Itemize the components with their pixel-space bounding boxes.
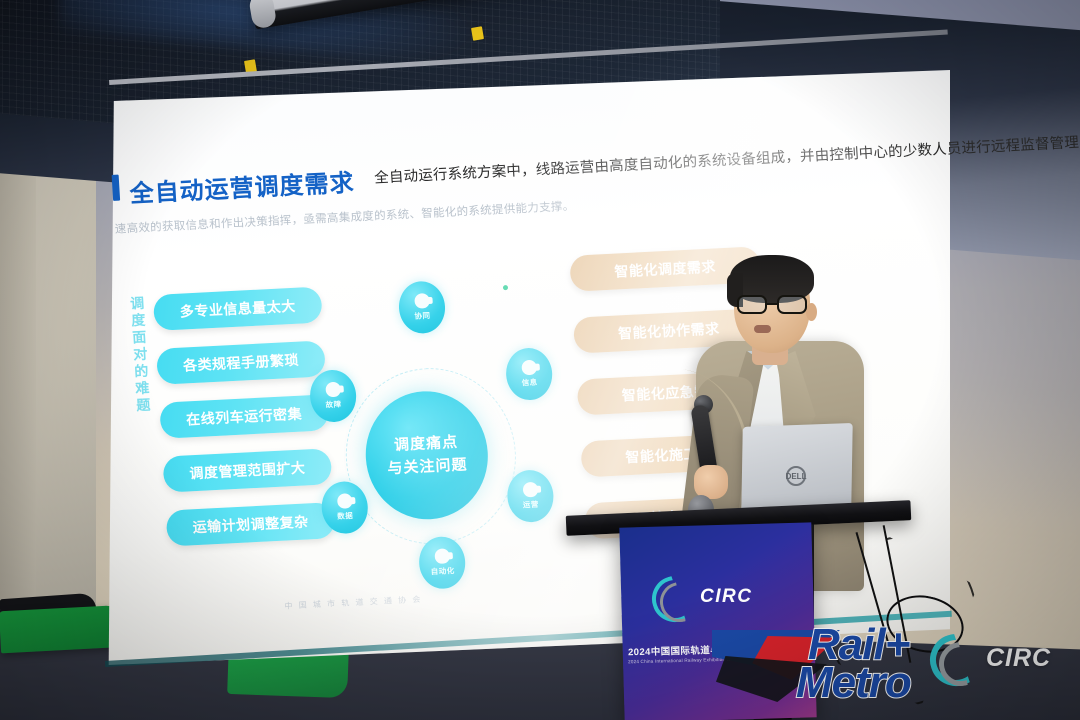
- core-label-line1: 调度痛点: [393, 430, 458, 456]
- left-pill-3[interactable]: 在线列车运行密集: [159, 394, 329, 438]
- photo-scene: 全自动运营调度需求 全自动运行系统方案中，线路运营由高度自动化的系统设备组成，并…: [0, 0, 1080, 720]
- slide-footer: 中 国 城 市 轨 道 交 通 协 会: [284, 594, 422, 612]
- eyeglasses-icon: [737, 295, 807, 314]
- circ-watermark: CIRC: [930, 632, 1056, 692]
- satellite-自动化[interactable]: 自动化: [418, 536, 467, 590]
- hand-icon: [325, 382, 341, 398]
- satellite-label: 故障: [325, 399, 342, 411]
- left-pill-5[interactable]: 运输计划调整复杂: [166, 502, 336, 546]
- vertical-caption: 调度面对的难题: [121, 295, 154, 415]
- slide-headline: 全自动运行系统方案中，线路运营由高度自动化的系统设备组成，并由控制中心的少数人员…: [374, 139, 915, 187]
- title-accent-bar: [112, 175, 121, 201]
- core-label-line2: 与关注问题: [387, 453, 468, 480]
- hand-icon: [414, 293, 430, 309]
- left-pill-4[interactable]: 调度管理范围扩大: [162, 448, 332, 492]
- orbit-dot: [503, 285, 508, 290]
- speaker-ear: [806, 303, 817, 321]
- dell-logo-icon: DELL: [786, 466, 806, 486]
- satellite-信息[interactable]: 信息: [505, 347, 554, 401]
- circ-watermark-text: CIRC: [986, 644, 1051, 673]
- left-pill-2[interactable]: 各类规程手册繁琐: [156, 340, 326, 384]
- satellite-label: 自动化: [430, 565, 455, 577]
- watermark-logos: Rail+ Metro CIRC: [712, 610, 1062, 714]
- hand-icon: [434, 548, 450, 564]
- satellite-运营[interactable]: 运营: [506, 469, 555, 523]
- warning-label-sticker: [471, 26, 484, 41]
- slide-title: 全自动运营调度需求: [129, 163, 356, 209]
- hand-icon: [336, 493, 352, 509]
- hand-icon: [522, 482, 538, 498]
- satellite-label: 协同: [414, 310, 431, 322]
- circ-logo-text: CIRC: [700, 586, 752, 608]
- left-pill-1[interactable]: 多专业信息量太大: [153, 286, 323, 330]
- speaker-mouth: [754, 325, 771, 333]
- satellite-label: 数据: [337, 510, 354, 522]
- satellite-label: 运营: [523, 499, 540, 511]
- rail-metro-text-line2: Metro: [796, 658, 911, 708]
- satellite-协同[interactable]: 协同: [397, 280, 446, 334]
- satellite-label: 信息: [521, 377, 538, 389]
- hand-icon: [521, 360, 537, 376]
